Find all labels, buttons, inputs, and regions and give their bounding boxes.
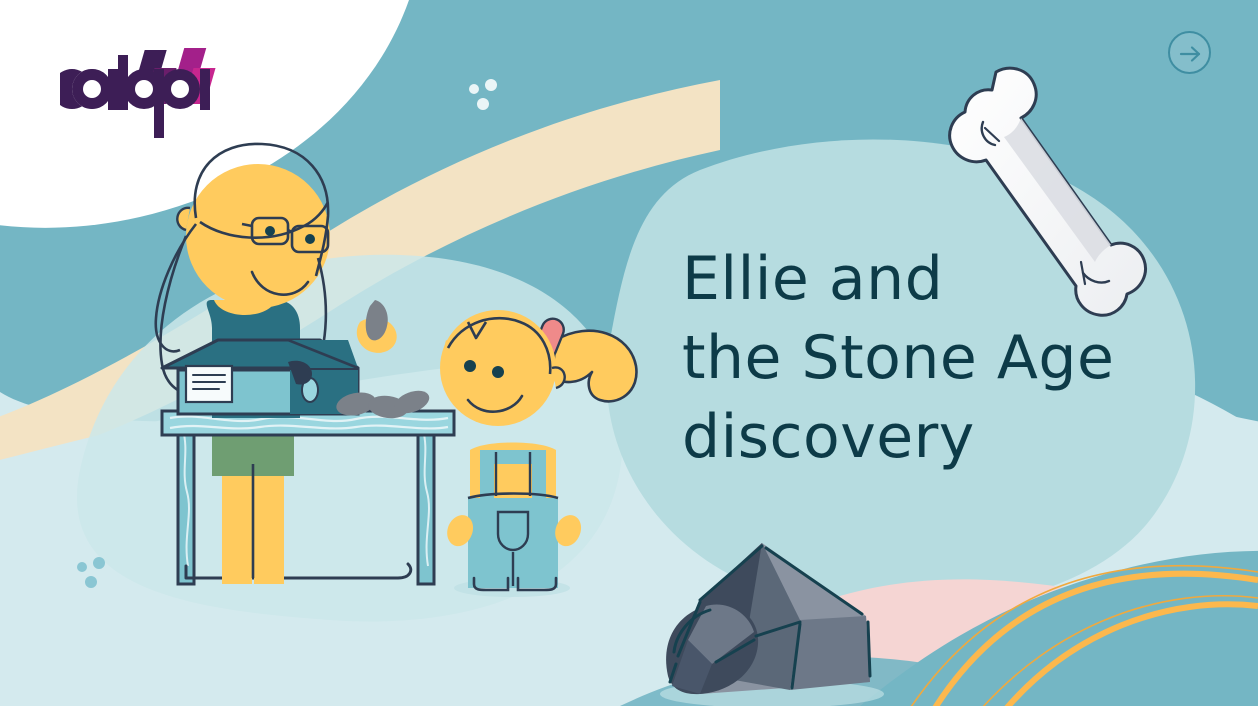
title-slide: abpi Ellie and the Stone Age discovery N… xyxy=(0,0,1258,706)
page-title: Ellie and the Stone Age discovery xyxy=(682,240,1152,478)
abpi-logo-svg xyxy=(60,28,290,138)
next-button[interactable]: Next xyxy=(1168,31,1211,74)
box-label xyxy=(186,366,232,402)
arrow-right-icon xyxy=(1178,42,1204,66)
abpi-logo[interactable]: abpi xyxy=(60,28,290,138)
